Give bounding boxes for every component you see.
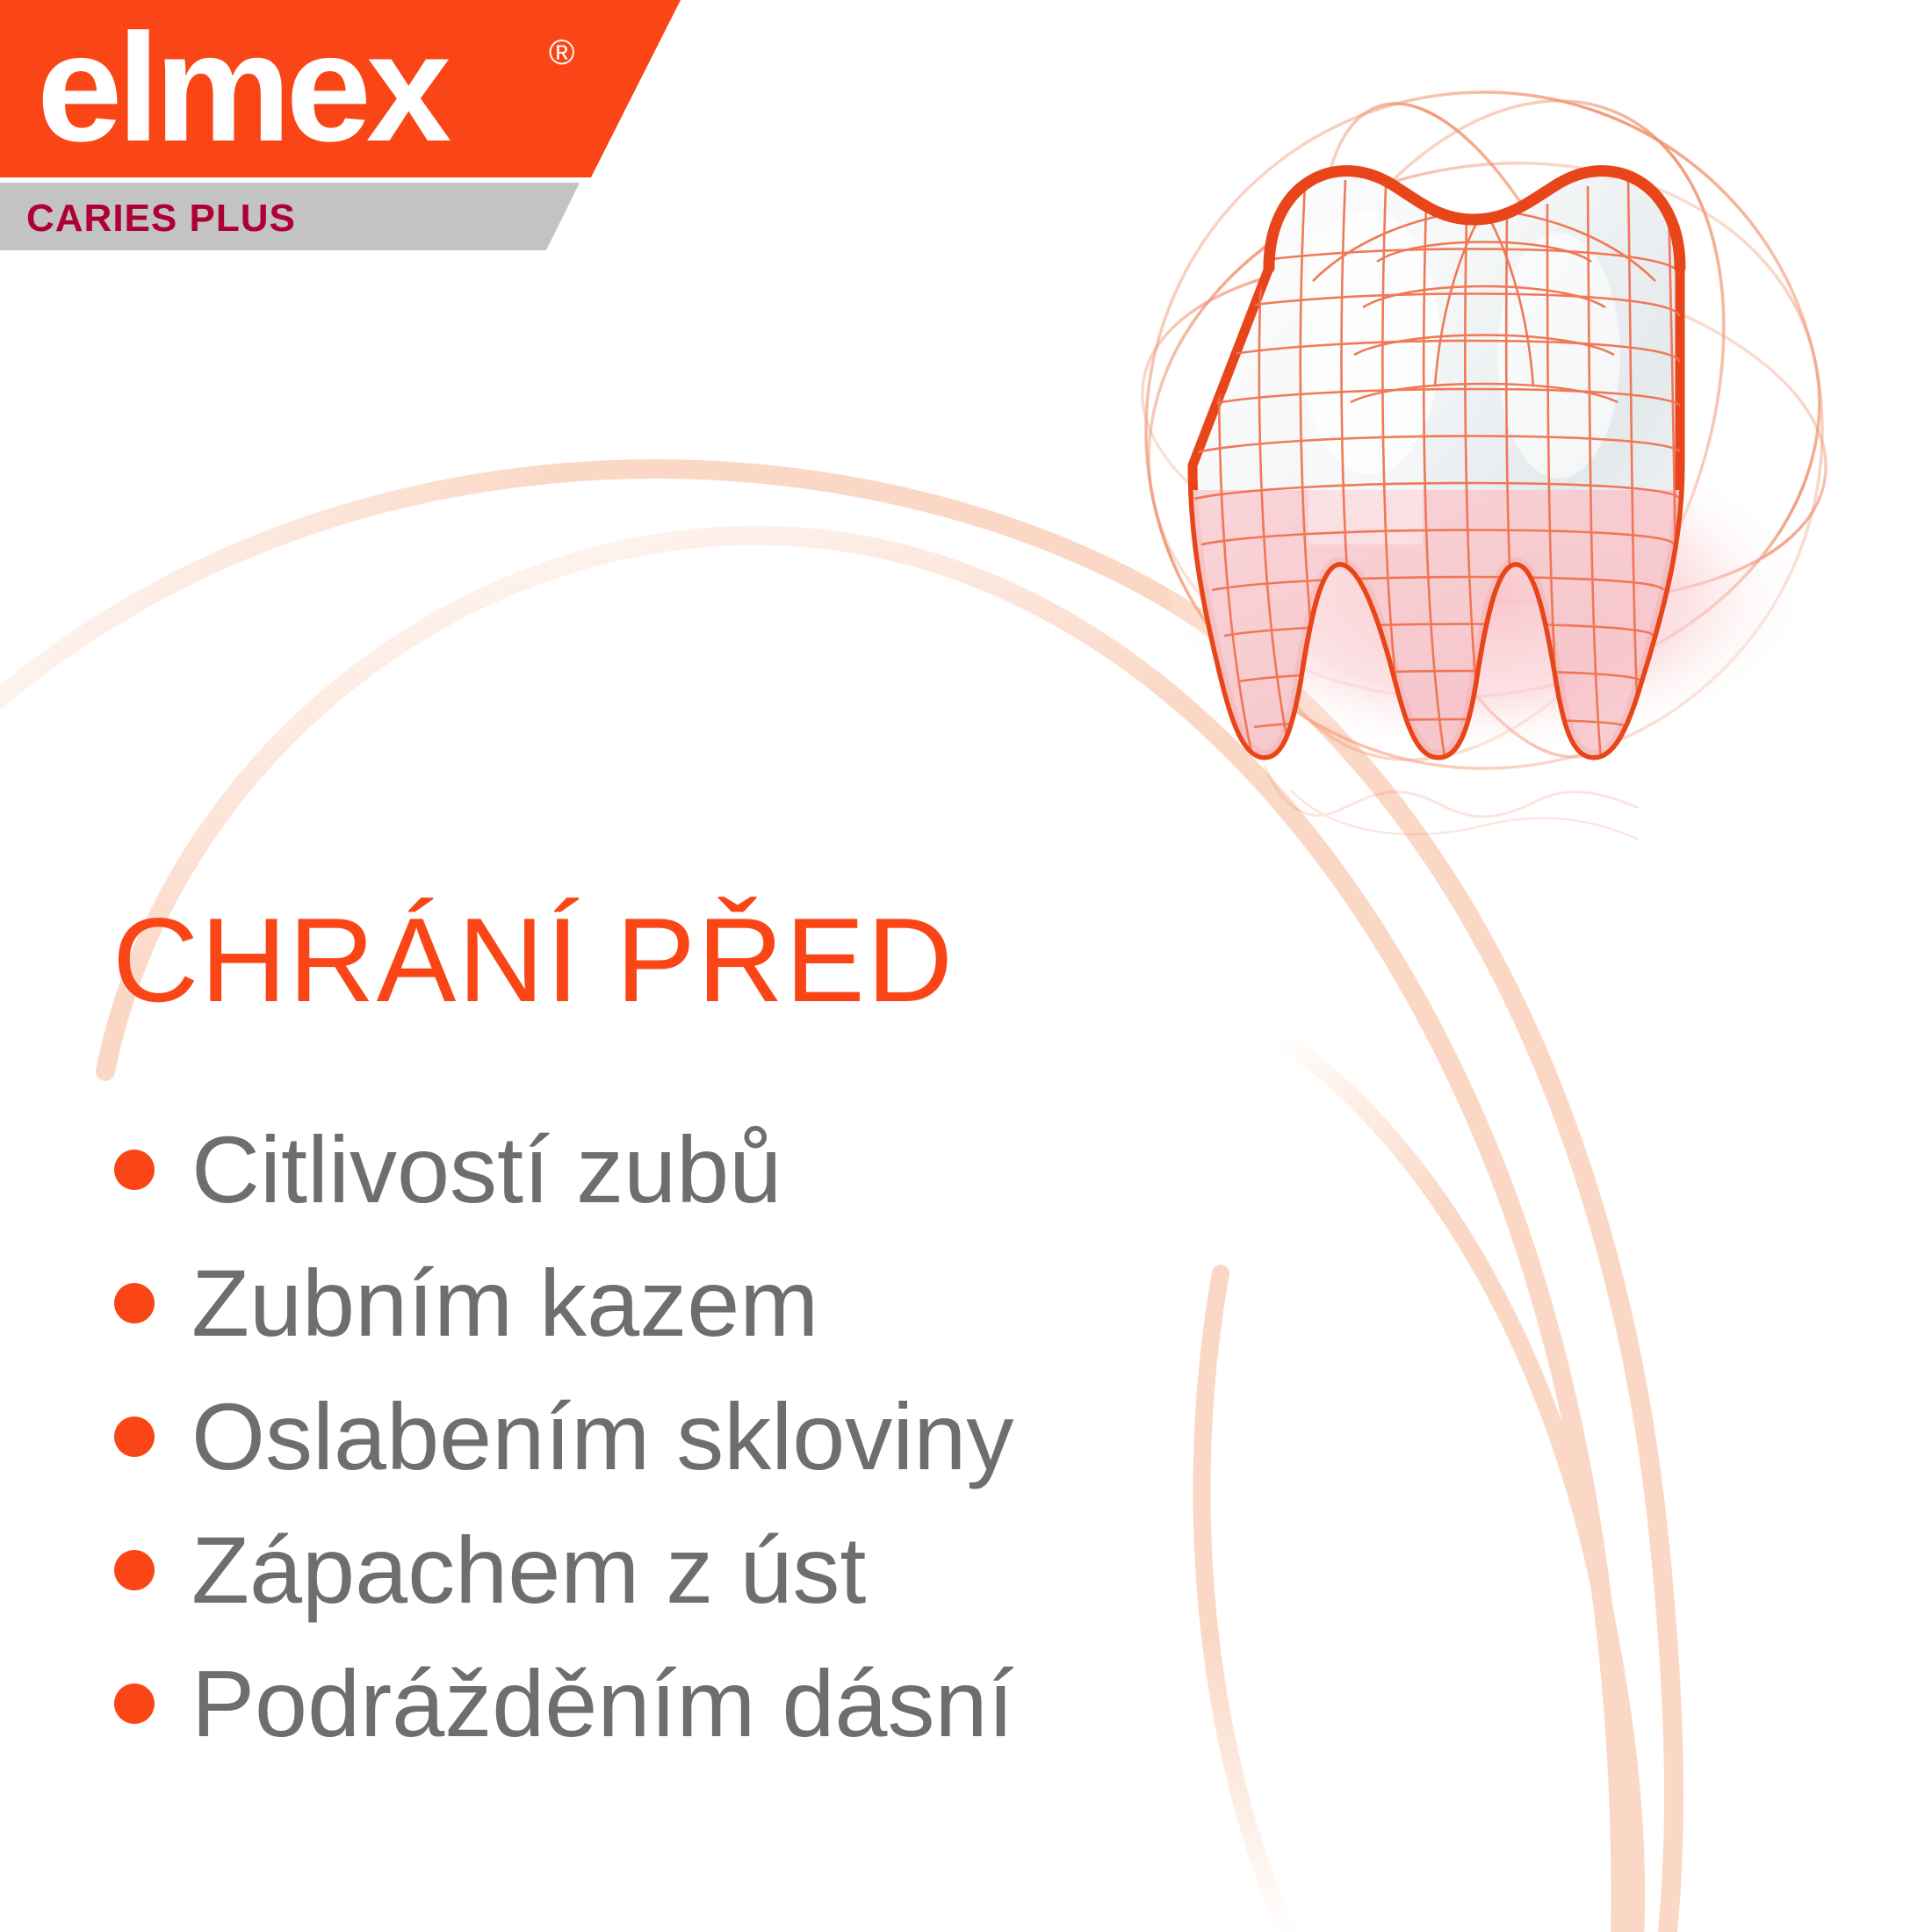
- tooth-illustration: [1045, 53, 1932, 869]
- list-item: Podrážděním dásní: [114, 1637, 1431, 1770]
- tooth-body: [1045, 171, 1932, 859]
- bullet-dot-icon: [114, 1417, 155, 1457]
- list-item: Citlivostí zubů: [114, 1103, 1431, 1236]
- tooth-reflection: [1265, 766, 1639, 840]
- benefit-label: Zápachem z úst: [191, 1518, 866, 1622]
- page-headline: CHRÁNÍ PŘED: [112, 894, 955, 1026]
- bullet-dot-icon: [114, 1150, 155, 1190]
- product-variant-label: CARIES PLUS: [26, 197, 296, 241]
- poster-canvas: elmex ® CARIES PLUS CHRÁNÍ PŘED Citlivos…: [0, 0, 1932, 1932]
- list-item: Oslabením skloviny: [114, 1370, 1431, 1503]
- benefit-label: Oslabením skloviny: [191, 1385, 1013, 1489]
- list-item: Zubním kazem: [114, 1236, 1431, 1370]
- list-item: Zápachem z úst: [114, 1503, 1431, 1637]
- benefit-label: Podrážděním dásní: [191, 1652, 1014, 1755]
- benefit-list: Citlivostí zubů Zubním kazem Oslabením s…: [114, 1103, 1431, 1770]
- bullet-dot-icon: [114, 1283, 155, 1323]
- bullet-dot-icon: [114, 1550, 155, 1590]
- bullet-dot-icon: [114, 1683, 155, 1724]
- benefit-label: Zubním kazem: [191, 1251, 818, 1355]
- brand-logo-badge: elmex ® CARIES PLUS: [0, 0, 703, 263]
- registered-trademark-icon: ®: [549, 33, 574, 73]
- benefit-label: Citlivostí zubů: [191, 1118, 782, 1222]
- brand-wordmark: elmex: [37, 5, 446, 172]
